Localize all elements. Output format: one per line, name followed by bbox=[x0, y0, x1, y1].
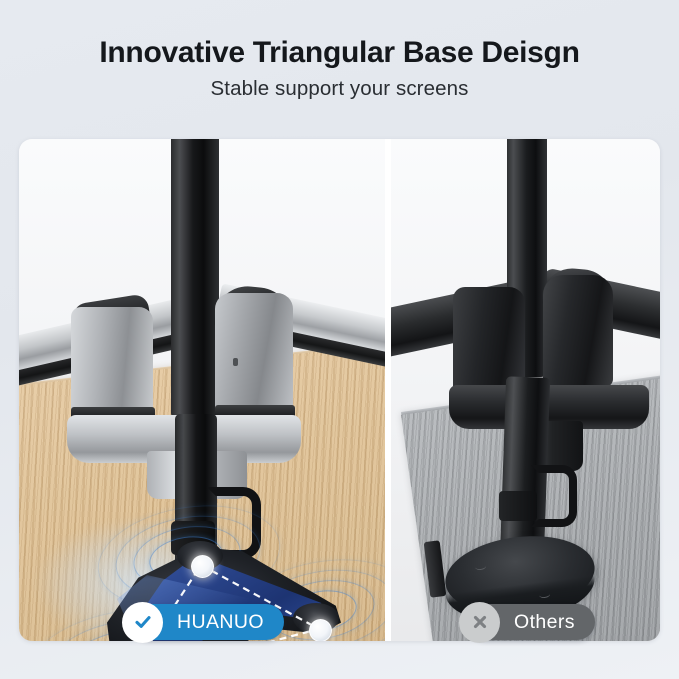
page-title: Innovative Triangular Base Deisgn bbox=[0, 0, 679, 70]
check-badge-circle bbox=[122, 602, 163, 643]
joint-screw bbox=[233, 358, 238, 366]
left-joint-housing bbox=[71, 307, 153, 415]
right-comparison-photo bbox=[391, 139, 660, 641]
header: Innovative Triangular Base Deisgn Stable… bbox=[0, 0, 679, 130]
badge-huanuo[interactable]: HUANUO bbox=[131, 604, 284, 640]
product-comparison-image: Innovative Triangular Base Deisgn Stable… bbox=[0, 0, 679, 679]
cable-clip-black bbox=[531, 465, 577, 527]
close-badge-circle bbox=[459, 602, 500, 643]
left-comparison-photo bbox=[19, 139, 385, 641]
base-foot-right bbox=[293, 603, 339, 633]
panel-divider bbox=[385, 139, 391, 641]
check-icon bbox=[132, 611, 154, 633]
page-subtitle: Stable support your screens bbox=[0, 70, 679, 101]
right-joint-housing-black bbox=[543, 275, 613, 387]
comparison-photo-panel bbox=[19, 139, 660, 641]
close-icon bbox=[470, 612, 490, 632]
base-foot-top bbox=[177, 541, 223, 571]
center-pole-upper bbox=[171, 139, 219, 419]
badge-others[interactable]: Others bbox=[468, 604, 595, 640]
right-joint-housing bbox=[215, 293, 293, 413]
